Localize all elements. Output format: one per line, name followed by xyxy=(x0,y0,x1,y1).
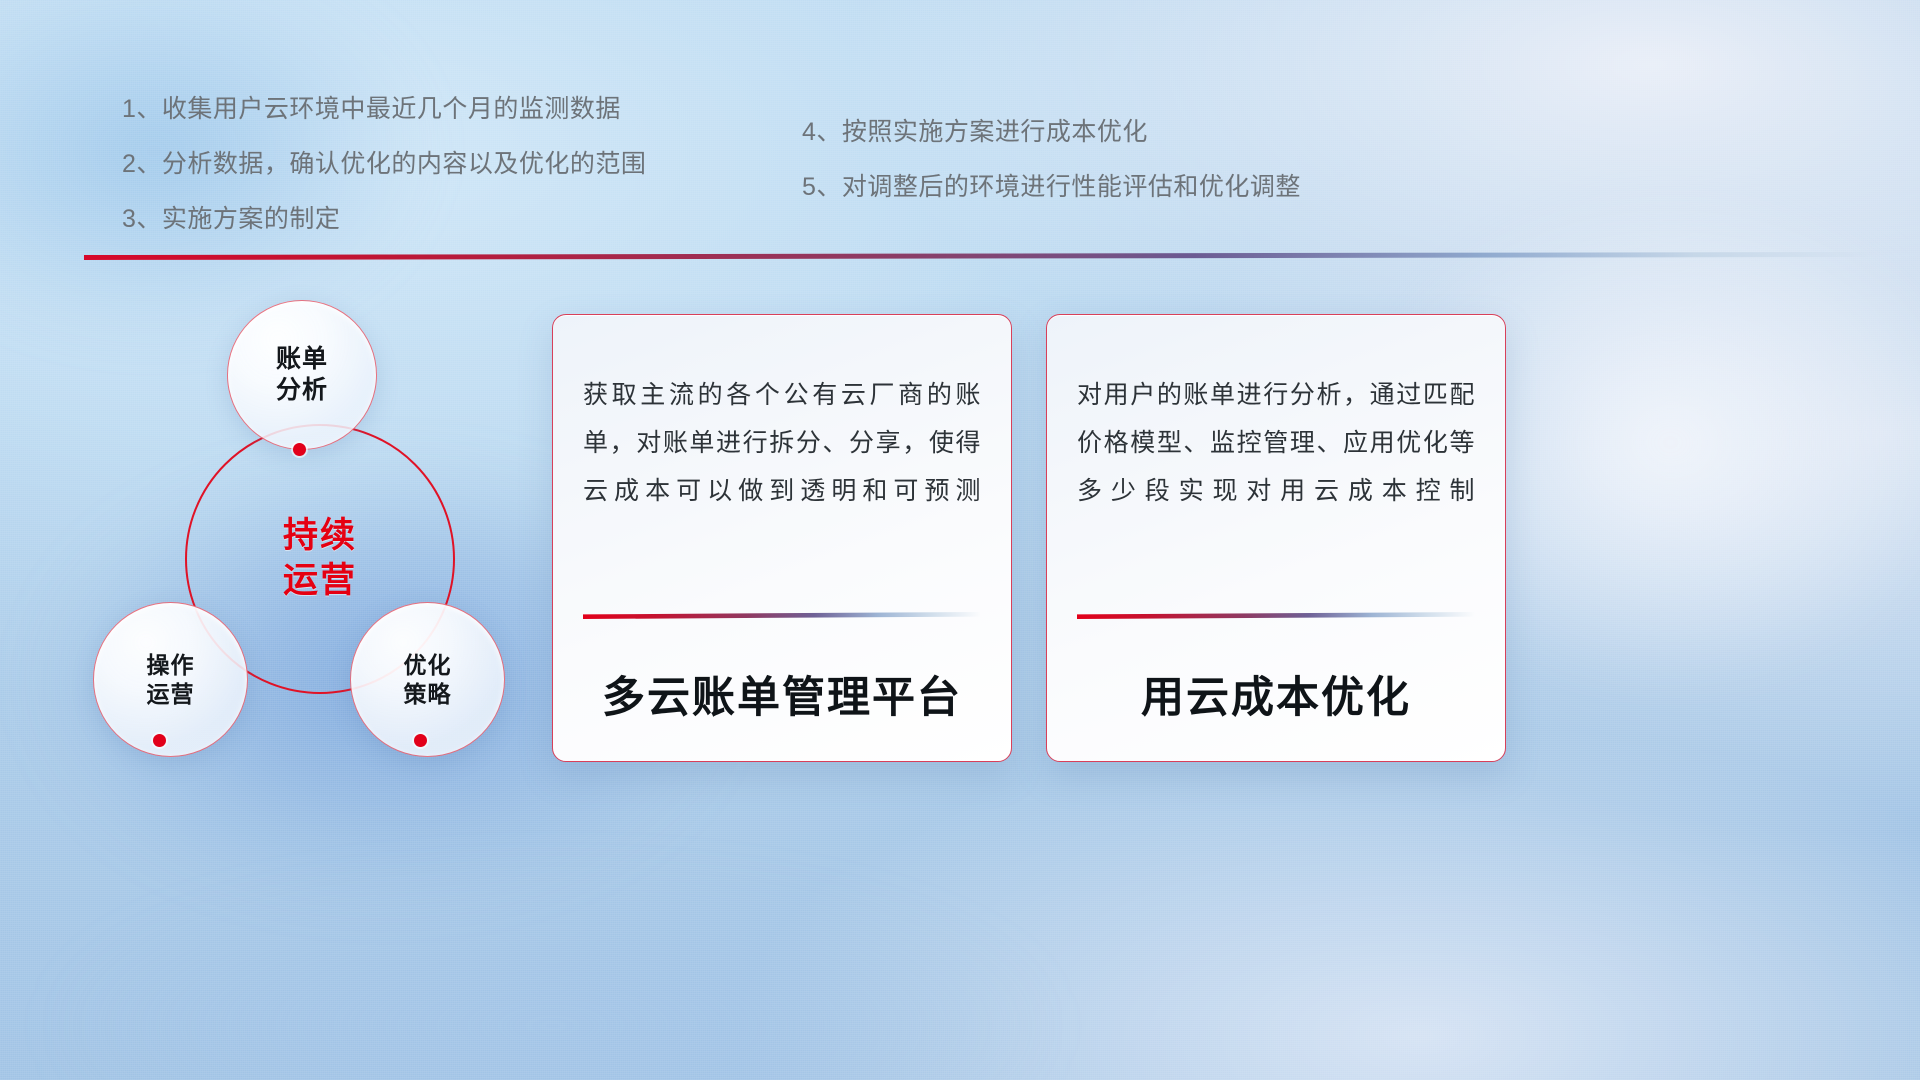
node-label-line-1: 操作 xyxy=(147,651,195,680)
node-label-line-2: 分析 xyxy=(276,375,328,407)
card-divider-rule xyxy=(1077,612,1475,619)
step-item-5: 5、对调整后的环境进行性能评估和优化调整 xyxy=(802,175,1502,200)
card-title: 多云账单管理平台 xyxy=(583,663,981,725)
connector-dot-top xyxy=(293,443,306,456)
step-item-4: 4、按照实施方案进行成本优化 xyxy=(802,120,1502,145)
feature-card-cloud-cost-optimization[interactable]: 对用户的账单进行分析，通过匹配价格模型、监控管理、应用优化等多少段实现对用云成本… xyxy=(1046,314,1506,762)
node-label-line-2: 策略 xyxy=(404,680,452,709)
node-label-line-1: 优化 xyxy=(404,651,452,680)
node-label-line-1: 账单 xyxy=(276,344,328,376)
diagram-node-operations[interactable]: 操作 运营 xyxy=(93,602,248,757)
step-item-3: 3、实施方案的制定 xyxy=(122,207,822,232)
center-label-line-2: 运营 xyxy=(283,559,357,604)
feature-card-multicloud-billing[interactable]: 获取主流的各个公有云厂商的账单，对账单进行拆分、分享，使得云成本可以做到透明和可… xyxy=(552,314,1012,762)
center-label-line-1: 持续 xyxy=(283,514,357,559)
continuous-operation-diagram: 持续 运营 账单 分析 操作 运营 优化 策略 xyxy=(75,282,545,762)
connector-dot-left xyxy=(153,734,166,747)
card-divider-rule xyxy=(583,612,981,619)
card-body-text: 获取主流的各个公有云厂商的账单，对账单进行拆分、分享，使得云成本可以做到透明和可… xyxy=(583,371,981,515)
card-body-text: 对用户的账单进行分析，通过匹配价格模型、监控管理、应用优化等多少段实现对用云成本… xyxy=(1077,371,1475,515)
step-item-2: 2、分析数据，确认优化的内容以及优化的范围 xyxy=(122,152,822,177)
card-title: 用云成本优化 xyxy=(1077,663,1475,725)
steps-right-column: 4、按照实施方案进行成本优化 5、对调整后的环境进行性能评估和优化调整 xyxy=(802,120,1502,230)
diagram-node-optimization-strategy[interactable]: 优化 策略 xyxy=(350,602,505,757)
steps-left-column: 1、收集用户云环境中最近几个月的监测数据 2、分析数据，确认优化的内容以及优化的… xyxy=(122,97,822,262)
diagram-node-bill-analysis[interactable]: 账单 分析 xyxy=(227,300,377,450)
node-label-line-2: 运营 xyxy=(147,680,195,709)
step-item-1: 1、收集用户云环境中最近几个月的监测数据 xyxy=(122,97,822,122)
connector-dot-right xyxy=(414,734,427,747)
